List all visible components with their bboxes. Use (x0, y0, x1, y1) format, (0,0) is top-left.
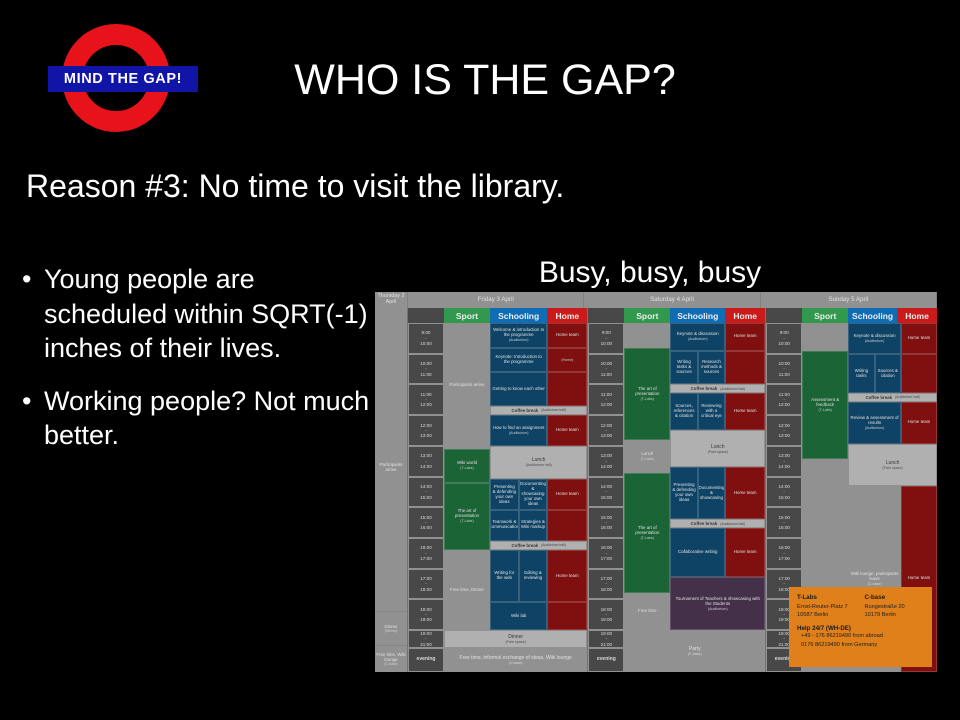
time-slot: 15:00-16:00 (408, 507, 444, 538)
cell-title: Review & assessment of results (850, 416, 899, 426)
schedule-cell: Assessment & feedback (T-Labs) (802, 351, 848, 459)
time-slot-evening: evening (408, 648, 444, 672)
break-title: Coffee break (512, 543, 539, 548)
logo-text: MIND THE GAP! (64, 71, 182, 87)
cell-sub: (Home) (561, 358, 573, 362)
schedule-cell: Sources, references & citation (670, 393, 697, 430)
schedule-cell: Editing & reviewing (519, 550, 548, 603)
cell-title: Home team (908, 420, 931, 425)
day-header-sunday: Sunday 5 April (761, 292, 937, 308)
time-slot-evening: evening (588, 648, 624, 672)
cell-title: Editing & reviewing (521, 571, 546, 581)
schedule-cell (547, 372, 587, 406)
conference-schedule-image: Thursday 2 April Friday 3 April Saturday… (375, 292, 937, 672)
schedule-cell: Home team (725, 467, 765, 519)
schedule-cell: Home team (725, 323, 765, 351)
cell-title: Keynote: Introduction to the programme (492, 355, 545, 365)
cell-sub: (Auditorium) (509, 338, 529, 342)
time-slot: 19:00-21:00 (408, 630, 444, 648)
time-header-spacer (766, 308, 802, 323)
bullet-marker-icon: • (22, 262, 44, 297)
time-slot: 18:00-19:00 (588, 599, 624, 630)
cell-title: Writing for the web (492, 571, 517, 581)
schedule-cell: Free time (624, 593, 670, 630)
schedule-cell: Strategies & Wiki markup (519, 510, 548, 541)
schedule-cell: Home team (901, 402, 937, 444)
schedule-cell: Presenting & defending your own ideas (670, 467, 697, 519)
cell-sub: (C-base) (868, 582, 882, 586)
cell-title: Home team (734, 550, 757, 555)
schedule-cell: Home team (725, 393, 765, 430)
schedule-cell (901, 354, 937, 392)
cell-sub: (T-Labs) (641, 536, 654, 540)
contact-info-box: T-Labs Ernst-Reuter-Platz 7 10587 Berlin… (789, 587, 932, 667)
coffee-break-row: Coffee break (Auditorium hall) (670, 384, 765, 393)
time-slot: 13:00-14:00 (766, 446, 802, 477)
time-slot: 10:00-11:00 (588, 354, 624, 385)
schedule-cell: The art of presentation (T-Labs) (624, 473, 670, 593)
dinner-sub: (Free space) (505, 640, 525, 644)
time-slot: 17:00-18:00 (408, 569, 444, 600)
time-slot: 19:00-21:00 (588, 630, 624, 648)
cell-sub: (Auditorium) (708, 607, 728, 611)
time-slot: 11:00-12:00 (588, 384, 624, 415)
cell-sub: (C-base) (384, 662, 397, 666)
track-header-sport: Sport (444, 308, 490, 323)
friday-time-column: 9:00-10:00 10:00-11:00 11:00-12:00 12:00… (408, 323, 444, 672)
venue-c-base: C-base Rungestraße 20 10179 Berlin (865, 594, 925, 619)
cell-sub: (T-Labs) (818, 408, 831, 412)
schedule-cell: The art of presentation (T-Labs) (444, 483, 490, 551)
time-slot: 16:00-17:00 (766, 538, 802, 569)
cell-title: Documenting & showcasing (699, 486, 725, 501)
coffee-break-row: Coffee break (Auditorium hall) (848, 393, 937, 402)
time-slot: 9:00-10:00 (766, 323, 802, 354)
cell-title: The art of presentation (446, 509, 488, 519)
schedule-cell: Participants arrive (444, 323, 490, 449)
saturday-column: Sport Schooling Home 9:00-10:00 10:00-11… (588, 308, 766, 672)
schedule-cell: Free time, Dinner (444, 550, 490, 630)
cell-title: Home team (556, 574, 579, 579)
day-header-saturday: Saturday 4 April (584, 292, 760, 308)
venue-street: Rungestraße 20 (865, 603, 925, 611)
cell-sub: (Auditorium) (865, 426, 885, 430)
list-item: • Young people are scheduled within SQRT… (22, 262, 370, 366)
cell-title: Participants arrive (376, 462, 406, 473)
schedule-cell: How to find an assignment (Auditorium) (490, 415, 547, 446)
time-slot: 17:00-18:00 (588, 569, 624, 600)
schedule-cell: Documenting & showcasing (698, 467, 725, 519)
bullet-list: • Young people are scheduled within SQRT… (22, 262, 370, 471)
time-header-spacer (408, 308, 444, 323)
break-sub: (Auditorium hall) (720, 387, 745, 391)
track-header-home: Home (547, 308, 587, 323)
break-sub: (Auditorium hall) (541, 543, 566, 547)
saturday-schooling-home: Keynote & discussion (Auditorium) Home t… (670, 323, 765, 630)
track-header-home: Home (897, 308, 937, 323)
track-header-sport: Sport (624, 308, 670, 323)
break-sub: (Auditorium hall) (720, 522, 745, 526)
cell-sub: (Auditorium) (688, 337, 708, 341)
lunch-row: Lunch (Free space) (670, 430, 765, 467)
cell-sub: (Auditorium) (865, 339, 885, 343)
schedule-cell: Writing tasks (848, 354, 874, 392)
schedule-cell: Writing for the web (490, 550, 519, 603)
schedule-cell (547, 602, 587, 630)
cell-title: Writing tasks & sources (672, 360, 695, 375)
time-slot: 13:00-14:00 (588, 446, 624, 477)
help-title: Help 24/7 (WH-DE) (797, 625, 924, 632)
schedule-cell: Sources & citation (875, 354, 901, 392)
schedule-cell: Home team (547, 550, 587, 603)
schedule-cell: (Home) (547, 348, 587, 373)
cell-sub: (Dinner) (385, 629, 397, 633)
schedule-cell: Home team (547, 415, 587, 446)
schedule-cell: Home team (725, 528, 765, 577)
cell-title: Free time, Wiki lounge (376, 652, 406, 663)
schedule-cell: Welcome & introduction to the programme … (490, 323, 547, 348)
venue-name: C-base (865, 594, 925, 601)
schedule-cell: Keynote: Introduction to the programme (490, 348, 547, 373)
cell-title: Free time (638, 609, 657, 614)
cell-title: Home team (734, 409, 757, 414)
cell-title: Presenting & defending your own ideas (492, 485, 517, 505)
cell-title: Home team (734, 334, 757, 339)
list-item: • Working people? Not much better. (22, 384, 370, 453)
friday-schooling-home: Welcome & introduction to the programme … (490, 323, 587, 630)
venues-row: T-Labs Ernst-Reuter-Platz 7 10587 Berlin… (797, 594, 924, 619)
phone-germany: 0176 86219490 from Germany (797, 641, 924, 649)
cell-sub: (Auditorium) (509, 431, 529, 435)
break-sub: (Auditorium hall) (895, 395, 920, 399)
schedule-cell: Research methods & sources (698, 351, 725, 385)
schedule-cell (624, 323, 670, 348)
track-header-schooling: Schooling (670, 308, 725, 323)
cell-title: Welcome & introduction to the programme (492, 328, 545, 338)
time-slot: 14:00-15:00 (766, 477, 802, 508)
time-slot: 18:00-19:00 (408, 599, 444, 630)
time-slot: 16:00-17:00 (408, 538, 444, 569)
cell-title: Home team (908, 336, 931, 341)
schedule-cell: Teamwork & communication (490, 510, 519, 541)
time-header-spacer (588, 308, 624, 323)
schedule-cell: Wiki lab (490, 602, 547, 630)
friday-tracks: Participants arrive Wiki world (T-Labs) … (444, 323, 587, 672)
lunch-sub: (Free space) (708, 450, 728, 454)
schedule-cell: Reviewing with a critical eye (698, 393, 725, 430)
cell-title: Home team (556, 333, 579, 338)
cell-title: Tournament of Teachers & showcasing with… (672, 597, 763, 607)
schedule-cell (802, 323, 848, 351)
thursday-evening-cell: Free time, Wiki lounge (C-base) (375, 646, 407, 672)
phone-abroad: +49 - 176 86219490 from abroad (797, 632, 924, 640)
cell-title: Participants arrive (449, 383, 484, 388)
schedule-cell: Presenting & defending your own ideas (490, 479, 519, 510)
schedule-cell: Getting to know each other (490, 372, 547, 406)
cell-title: Assessment & feedback (804, 398, 846, 408)
thursday-arrive-cell: Participants arrive (375, 323, 407, 612)
bullet-text: Young people are scheduled within SQRT(-… (44, 262, 370, 366)
schedule-cell: Collaborative writing (670, 528, 725, 577)
friday-track-headers: Sport Schooling Home (408, 308, 587, 323)
cell-title: The art of presentation (626, 387, 668, 397)
time-slot: 9:00-10:00 (408, 323, 444, 354)
day-header-friday: Friday 3 April (408, 292, 584, 308)
schedule-cell: Home team (547, 479, 587, 510)
lunch-sub: (Free space) (882, 466, 902, 470)
evening-sub: (C-base) (688, 652, 702, 656)
cell-sub: (T-Labs) (460, 466, 473, 470)
break-title: Coffee break (691, 521, 718, 526)
time-slot: 15:00-16:00 (766, 507, 802, 538)
friday-sport-track: Participants arrive Wiki world (T-Labs) … (444, 323, 490, 630)
cell-title: Strategies & Wiki markup (521, 520, 546, 530)
schedule-cell: Keynote & discussion (Auditorium) (848, 323, 901, 354)
saturday-sport-track: The art of presentation (T-Labs) Lunch (… (624, 323, 670, 630)
cell-title: Free time, Dinner (450, 588, 484, 593)
coffee-break-row: Coffee break (Auditorium hall) (670, 519, 765, 528)
time-slot: 16:00-17:00 (588, 538, 624, 569)
coffee-break-row: Coffee break (Auditorium hall) (490, 406, 587, 415)
time-slot: 15:00-16:00 (588, 507, 624, 538)
cell-title: The art of presentation (626, 526, 668, 536)
cell-title: Writing tasks (850, 369, 872, 379)
time-slot: 14:00-15:00 (588, 477, 624, 508)
schedule-cell: Documenting & showcasing your own ideas (519, 479, 548, 510)
schedule-cell: Lunch (T-Labs) (624, 440, 670, 474)
cell-sub: (T-Labs) (641, 457, 654, 461)
time-slot: 9:00-10:00 (588, 323, 624, 354)
cell-title: Home team (556, 492, 579, 497)
friday-dinner-row: Dinner (Free space) (444, 630, 587, 648)
schedule-cell: Home team (901, 323, 937, 354)
venue-street: Ernst-Reuter-Platz 7 (797, 603, 857, 611)
friday-grid: 9:00-10:00 10:00-11:00 11:00-12:00 12:00… (408, 323, 587, 672)
break-sub: (Auditorium hall) (541, 408, 566, 412)
page-title: WHO IS THE GAP? (255, 58, 715, 103)
cell-title: Sources & citation (877, 369, 899, 379)
time-slot: 10:00-11:00 (408, 354, 444, 385)
cell-title: Wiki lab (511, 614, 526, 619)
venue-city: 10587 Berlin (797, 611, 857, 619)
time-slot: 13:00-14:00 (408, 446, 444, 477)
cell-title: Home team (556, 428, 579, 433)
slide-subtitle: Reason #3: No time to visit the library. (26, 168, 564, 205)
cell-title: Teamwork & communication (490, 520, 519, 530)
thursday-column: Participants arrive Dinner (Dinner) Free… (375, 308, 408, 672)
saturday-tracks: The art of presentation (T-Labs) Lunch (… (624, 323, 765, 672)
schedule-cell: Home team (547, 323, 587, 348)
saturday-evening-row: Party (C-base) (624, 630, 765, 672)
image-caption: Busy, busy, busy (470, 256, 830, 290)
schedule-day-header-row: Thursday 2 April Friday 3 April Saturday… (375, 292, 937, 308)
schedule-cell: The art of presentation (T-Labs) (624, 348, 670, 440)
time-slot: 11:00-12:00 (408, 384, 444, 415)
lunch-row: Lunch (Free space) (848, 444, 937, 486)
thursday-header-spacer (375, 308, 407, 323)
cell-sub: (T-Labs) (460, 519, 473, 523)
cell-title: Sources, references & citation (672, 404, 695, 419)
track-header-home: Home (725, 308, 765, 323)
cell-title: Presenting & defending your own ideas (672, 483, 695, 503)
saturday-grid: 9:00-10:00 10:00-11:00 11:00-12:00 12:00… (588, 323, 765, 672)
cell-title: Home team (734, 491, 757, 496)
slide: MIND THE GAP! WHO IS THE GAP? Reason #3:… (0, 0, 960, 720)
venue-city: 10179 Berlin (865, 611, 925, 619)
schedule-cell (725, 351, 765, 385)
sunday-track-headers: Sport Schooling Home (766, 308, 937, 323)
friday-evening-row: Free time, informal exchange of ideas, W… (444, 648, 587, 672)
saturday-track-headers: Sport Schooling Home (588, 308, 765, 323)
friday-column: Sport Schooling Home 9:00-10:00 10:00-11… (408, 308, 588, 672)
saturday-time-column: 9:00-10:00 10:00-11:00 11:00-12:00 12:00… (588, 323, 624, 672)
cell-title: Collaborative writing (678, 550, 718, 555)
day-header-thursday: Thursday 2 April (375, 292, 408, 308)
track-header-schooling: Schooling (848, 308, 897, 323)
cell-title: Research methods & sources (700, 360, 723, 375)
cell-title: Documenting & showcasing your own ideas (520, 482, 546, 507)
time-slot: 12:00-13:00 (588, 415, 624, 446)
cell-title: Reviewing with a critical eye (700, 404, 723, 419)
track-header-sport: Sport (802, 308, 848, 323)
schedule-cell: Keynote & discussion (Auditorium) (670, 323, 725, 351)
bullet-marker-icon: • (22, 384, 44, 419)
schedule-cell: Wiki world (T-Labs) (444, 449, 490, 483)
time-slot: 14:00-15:00 (408, 477, 444, 508)
cell-title: Wiki lounge, participants leave (850, 572, 899, 582)
time-slot: 12:00-13:00 (408, 415, 444, 446)
schedule-cell (547, 510, 587, 541)
time-slot: 12:00-13:00 (766, 415, 802, 446)
bullet-text: Working people? Not much better. (44, 384, 370, 453)
evening-sub: (C-base) (509, 661, 523, 665)
mind-the-gap-logo: MIND THE GAP! (48, 22, 198, 134)
break-title: Coffee break (512, 408, 539, 413)
venue-t-labs: T-Labs Ernst-Reuter-Platz 7 10587 Berlin (797, 594, 857, 619)
cell-title: Getting to know each other (492, 387, 544, 392)
cell-title: Home team (908, 576, 931, 581)
logo-bar: MIND THE GAP! (48, 66, 198, 92)
time-slot: 10:00-11:00 (766, 354, 802, 385)
schedule-cell: Writing tasks & sources (670, 351, 697, 385)
lunch-row: Lunch (Auditorium hall) (490, 446, 587, 480)
venue-name: T-Labs (797, 594, 857, 601)
break-title: Coffee break (691, 386, 718, 391)
coffee-break-row: Coffee break (Auditorium hall) (490, 541, 587, 550)
tournament-block: Tournament of Teachers & showcasing with… (670, 577, 765, 630)
time-slot: 11:00-12:00 (766, 384, 802, 415)
cell-sub: (T-Labs) (641, 397, 654, 401)
schedule-cell: Review & assessment of results (Auditori… (848, 402, 901, 444)
lunch-sub: (Auditorium hall) (526, 463, 552, 467)
thursday-dinner-cell: Dinner (Dinner) (375, 612, 407, 646)
track-header-schooling: Schooling (490, 308, 547, 323)
break-title: Coffee break (865, 395, 892, 400)
